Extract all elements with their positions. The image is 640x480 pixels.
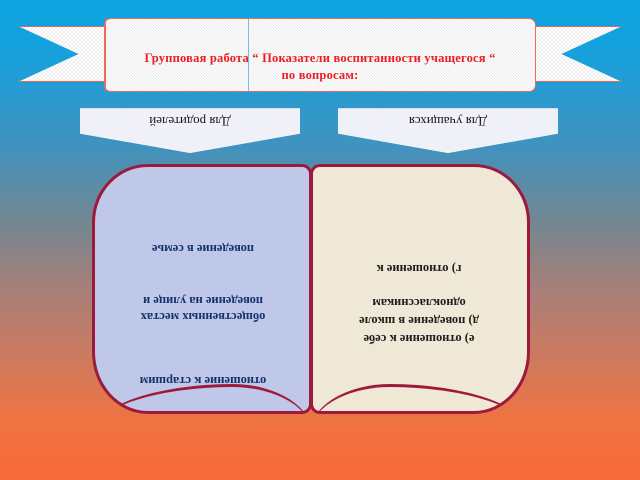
- pennant-for-parents-label: Для родителей: [80, 108, 300, 134]
- slide-title-line2: по вопросам:: [104, 67, 536, 84]
- open-book-graphic: отношение к старшим общественных местах …: [92, 164, 532, 414]
- right-page-line-2: д) поведение в школе: [310, 313, 530, 329]
- book-page-right: е) отношение к себе д) поведение в школе…: [310, 164, 530, 414]
- left-page-line-2a: общественных местах: [92, 309, 312, 325]
- right-page-line-3: одноклассникам: [310, 295, 530, 311]
- right-page-line-4: г) отношение к: [310, 261, 530, 277]
- book-page-left: отношение к старшим общественных местах …: [92, 164, 312, 414]
- slide-title: Групповая работа “ Показатели воспитанно…: [104, 50, 536, 84]
- right-page-line-1: е) отношение к себе: [310, 331, 530, 347]
- book-page-right-text: е) отношение к себе д) поведение в школе…: [313, 167, 530, 414]
- pennant-for-students-label: Для учащихся: [338, 108, 558, 134]
- left-page-line-2: общественных местах поведение на улице и: [92, 293, 312, 325]
- left-page-line-2b: поведение на улице и: [92, 293, 312, 309]
- slide-canvas: Групповая работа “ Показатели воспитанно…: [0, 0, 640, 480]
- title-ribbon: Групповая работа “ Показатели воспитанно…: [0, 0, 640, 110]
- slide-title-line1: Групповая работа “ Показатели воспитанно…: [144, 51, 495, 65]
- left-page-line-3: поведение в семье: [92, 241, 312, 257]
- left-page-line-1: отношение к старшим: [92, 373, 312, 389]
- book-page-left-text: отношение к старшим общественных местах …: [95, 167, 312, 414]
